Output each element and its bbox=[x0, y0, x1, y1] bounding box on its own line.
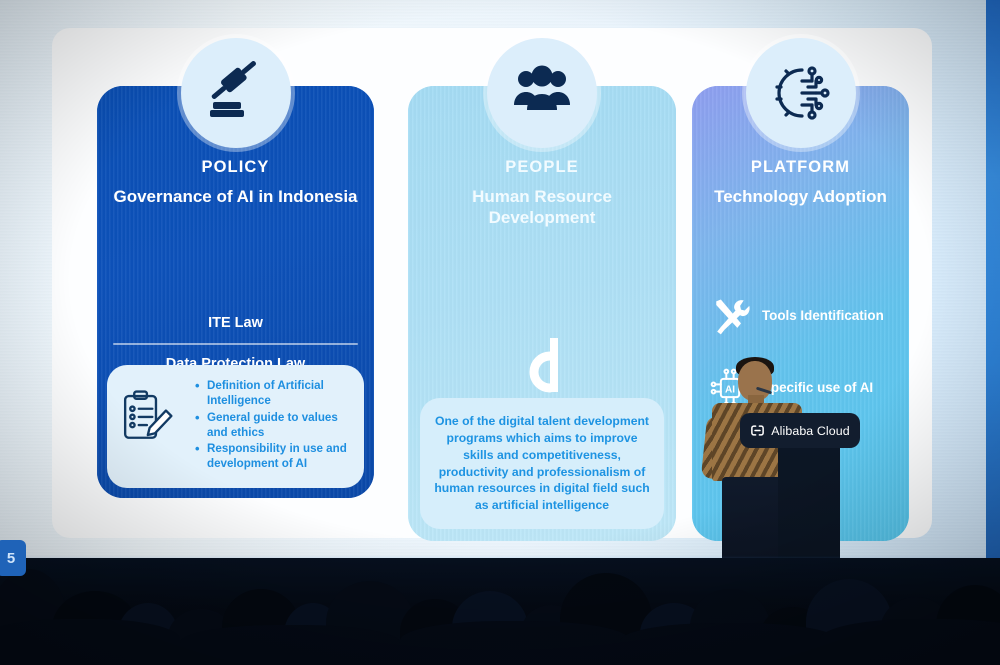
card-platform-title: Technology Adoption bbox=[706, 187, 895, 208]
audience-shoulders bbox=[620, 623, 840, 665]
card-policy: POLICY Governance of AI in Indonesia ITE… bbox=[97, 86, 374, 498]
card-platform-eyebrow: PLATFORM bbox=[706, 158, 895, 177]
platform-item-label: Tools Identification bbox=[762, 308, 884, 324]
screen-right-edge bbox=[986, 0, 1000, 585]
card-people-heading: PEOPLE Human Resource Development bbox=[408, 158, 676, 228]
platform-item: Tools Identification bbox=[692, 294, 909, 338]
card-policy-heading: POLICY Governance of AI in Indonesia bbox=[97, 158, 374, 208]
tools-cross-icon bbox=[706, 294, 754, 338]
card-platform-heading: PLATFORM Technology Adoption bbox=[692, 158, 909, 208]
podium-brand-sign: Alibaba Cloud bbox=[740, 413, 860, 448]
people-note-text: One of the digital talent development pr… bbox=[434, 413, 650, 514]
policy-note-box: Definition of Artificial Intelligence Ge… bbox=[107, 365, 364, 488]
policy-bullet: Responsibility in use and development of… bbox=[195, 442, 352, 472]
policy-law-item: ITE Law bbox=[113, 304, 358, 343]
stage-scene: POLICY Governance of AI in Indonesia ITE… bbox=[0, 0, 1000, 665]
gavel-icon bbox=[181, 38, 291, 148]
card-policy-title: Governance of AI in Indonesia bbox=[111, 187, 360, 208]
people-note-box: One of the digital talent development pr… bbox=[420, 398, 664, 529]
audience-shoulders bbox=[400, 621, 630, 665]
gear-circuit-icon bbox=[746, 38, 856, 148]
slide-corner-badge: 5 bbox=[0, 540, 26, 576]
audience-shoulders bbox=[180, 625, 400, 665]
audience-shoulders bbox=[820, 619, 1000, 665]
card-policy-eyebrow: POLICY bbox=[111, 158, 360, 177]
card-people: PEOPLE Human Resource Development digita… bbox=[408, 86, 676, 541]
audience-shoulders bbox=[0, 619, 180, 665]
alibaba-cloud-logo-icon bbox=[750, 423, 765, 438]
podium-brand-label: Alibaba Cloud bbox=[771, 424, 849, 438]
card-people-title: Human Resource Development bbox=[422, 187, 662, 228]
card-people-eyebrow: PEOPLE bbox=[422, 158, 662, 177]
digitalent-mark-icon bbox=[516, 336, 568, 394]
policy-bullet: General guide to values and ethics bbox=[195, 411, 352, 441]
policy-bullet: Definition of Artificial Intelligence bbox=[195, 379, 352, 409]
policy-bullet-list: Definition of Artificial Intelligence Ge… bbox=[183, 379, 352, 474]
people-group-icon bbox=[487, 38, 597, 148]
clipboard-checklist-icon bbox=[117, 379, 177, 445]
audience-silhouettes bbox=[0, 540, 1000, 665]
